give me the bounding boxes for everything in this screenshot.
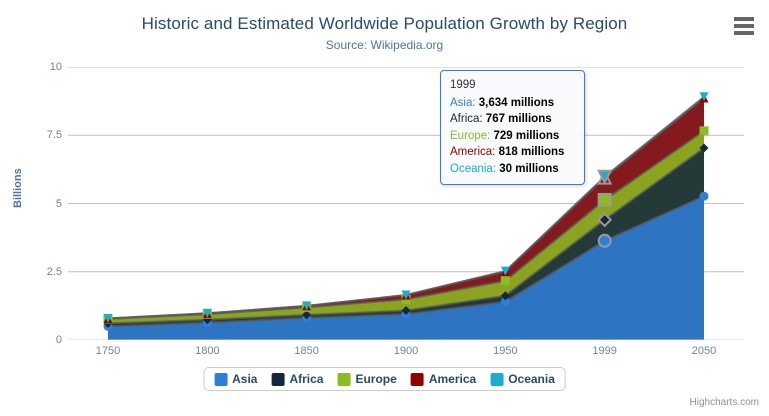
legend-label: Africa: [289, 372, 323, 386]
legend-item-america[interactable]: America: [411, 372, 476, 386]
data-point-marker-asia[interactable]: [599, 235, 611, 247]
y-axis-tick-label: 2.5: [22, 266, 62, 278]
highcharts-container: Historic and Estimated Worldwide Populat…: [0, 0, 769, 416]
legend-swatch-asia-icon: [214, 373, 227, 386]
legend-swatch-africa-icon: [271, 373, 284, 386]
legend-label: America: [429, 372, 476, 386]
legend-item-asia[interactable]: Asia: [214, 372, 257, 386]
legend-items: AsiaAfricaEuropeAmericaOceania: [214, 372, 555, 386]
data-point-marker-europe[interactable]: [599, 194, 611, 206]
legend-item-oceania[interactable]: Oceania: [490, 372, 555, 386]
chart-title: Historic and Estimated Worldwide Populat…: [0, 14, 769, 34]
y-axis-tick-label: 7.5: [22, 129, 62, 141]
hamburger-menu-icon[interactable]: [731, 15, 757, 37]
y-axis-title: Billions: [12, 168, 24, 208]
x-axis-tick-label: 1999: [592, 345, 616, 357]
legend-label: Europe: [355, 372, 396, 386]
plot-area: [68, 67, 744, 340]
x-axis-tick-label: 1850: [294, 345, 318, 357]
legend-label: Asia: [232, 372, 257, 386]
x-axis-tick-label: 1800: [195, 345, 219, 357]
y-axis-tick-label: 10: [22, 61, 62, 73]
legend-item-africa[interactable]: Africa: [271, 372, 323, 386]
data-point-marker-europe[interactable]: [700, 126, 709, 135]
y-axis-tick-label: 0: [22, 334, 62, 346]
x-axis-tick-label: 1950: [493, 345, 517, 357]
data-point-marker-asia[interactable]: [700, 192, 709, 201]
chart-legend: AsiaAfricaEuropeAmericaOceania: [203, 367, 566, 391]
x-axis-tick-label: 2050: [692, 345, 716, 357]
x-axis-tick-label: 1900: [394, 345, 418, 357]
highcharts-credits[interactable]: Highcharts.com: [690, 397, 759, 408]
legend-swatch-america-icon: [411, 373, 424, 386]
data-point-marker-europe[interactable]: [501, 276, 510, 285]
legend-swatch-oceania-icon: [490, 373, 503, 386]
legend-label: Oceania: [508, 372, 555, 386]
y-axis-tick-label: 5: [22, 198, 62, 210]
menu-bar-1: [734, 17, 754, 21]
x-axis-tick-label: 1750: [96, 345, 120, 357]
menu-bar-2: [734, 24, 754, 28]
menu-bar-3: [734, 31, 754, 35]
chart-plot-svg: [68, 67, 744, 340]
chart-subtitle: Source: Wikipedia.org: [0, 38, 769, 52]
legend-swatch-europe-icon: [337, 373, 350, 386]
legend-item-europe[interactable]: Europe: [337, 372, 396, 386]
